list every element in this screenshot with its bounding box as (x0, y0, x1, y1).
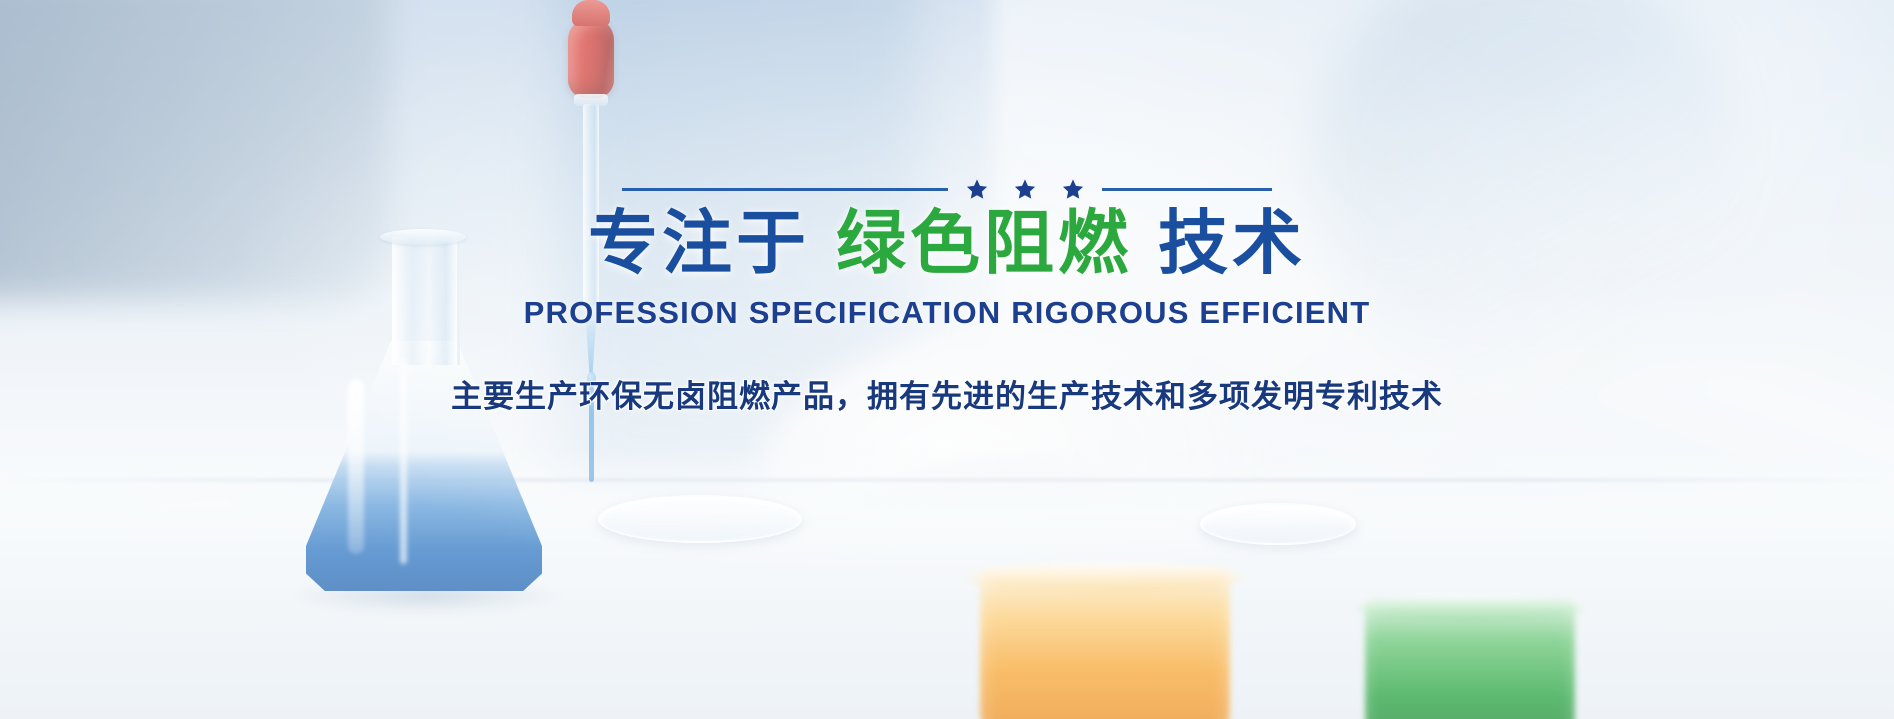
headline-part-3: 技术 (1158, 204, 1306, 282)
headline-subtitle-english: PROFESSION SPECIFICATION RIGOROUS EFFICI… (524, 295, 1371, 331)
divider-line-left (622, 188, 948, 191)
star-icon (1062, 178, 1084, 200)
hero-banner: 专注于绿色阻燃技术 PROFESSION SPECIFICATION RIGOR… (0, 0, 1894, 719)
divider-stars (966, 178, 1084, 200)
star-icon (966, 178, 988, 200)
decorative-divider (622, 178, 1272, 200)
headline-part-2: 绿色阻燃 (836, 204, 1132, 282)
divider-line-right (1102, 188, 1272, 191)
headline: 专注于绿色阻燃技术 (588, 208, 1306, 279)
headline-part-1: 专注于 (588, 204, 810, 282)
banner-tagline: 主要生产环保无卤阻燃产品，拥有先进的生产技术和多项发明专利技术 (451, 371, 1443, 416)
banner-content: 专注于绿色阻燃技术 PROFESSION SPECIFICATION RIGOR… (0, 0, 1894, 719)
star-icon (1014, 178, 1036, 200)
